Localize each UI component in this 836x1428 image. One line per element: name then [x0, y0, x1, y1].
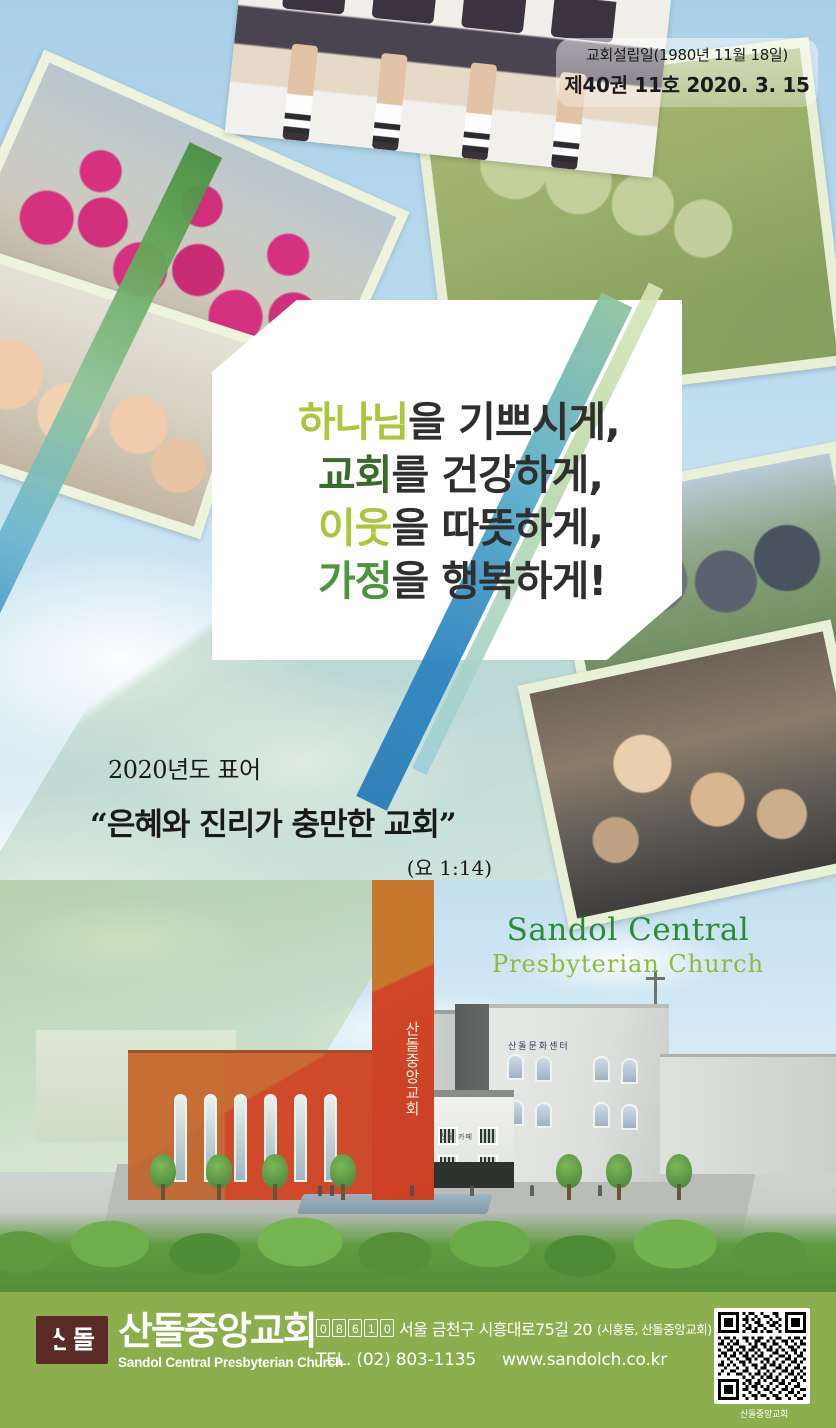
slogan-line-1: 하나님을 기쁘시게, — [236, 396, 676, 449]
brand-name-english: Sandol Central Presbyterian Church — [118, 1355, 343, 1370]
telephone[interactable]: TEL. (02) 803-1135 — [316, 1350, 476, 1370]
nave-window — [294, 1094, 307, 1182]
street-address: 서울 금천구 시흥대로75길 20 — [399, 1316, 592, 1340]
slogan-keyword-church: 교회 — [318, 451, 391, 499]
window — [535, 1056, 552, 1082]
church-founding-date: 교회설립일(1980년 11월 18일) — [564, 44, 810, 65]
window — [621, 1058, 638, 1084]
window — [507, 1054, 524, 1080]
year-motto-block: 2020년도 표어 “은혜와 진리가 충만한 교회” (요 1:14) — [90, 750, 520, 881]
slogan-rest-4: 을 행복하게! — [391, 557, 606, 605]
english-name-line-2: Presbyterian Church — [478, 950, 778, 978]
slogan-keyword-god: 하나님 — [298, 398, 408, 446]
slogan-rest-3: 을 따뜻하게, — [391, 504, 602, 552]
bulletin-cover: 산돌문화센터 산돌 카페 산돌중앙교회 — [0, 0, 836, 1428]
zip-digit: 0 — [380, 1319, 394, 1337]
slogan-line-3: 이웃을 따뜻하게, — [236, 502, 676, 555]
culture-center-sign: 산돌문화센터 — [508, 1039, 570, 1052]
motto-scripture-reference: (요 1:14) — [90, 852, 520, 881]
slogan-rest-1: 을 기쁘시게, — [408, 398, 619, 446]
window — [593, 1056, 610, 1082]
window — [535, 1102, 552, 1128]
slogan-keyword-family: 가정 — [318, 557, 391, 605]
pedestrian — [598, 1185, 602, 1196]
tree — [606, 1154, 632, 1200]
window — [478, 1127, 498, 1145]
motto-year-label: 2020년도 표어 — [108, 750, 520, 785]
address-detail: (시흥동, 산돌중앙교회) — [597, 1319, 712, 1338]
pedestrian — [530, 1185, 534, 1196]
foreground-shrubs — [0, 1212, 836, 1292]
tree — [262, 1154, 288, 1200]
qr-code-block[interactable]: 산돌중앙교회 — [714, 1308, 814, 1420]
tree — [666, 1154, 692, 1200]
address-row: 0 8 6 1 0 서울 금천구 시흥대로75길 20 (시흥동, 산돌중앙교회… — [316, 1316, 696, 1340]
church-vision-slogan: 하나님을 기쁘시게, 교회를 건강하게, 이웃을 따뜻하게, 가정을 행복하게! — [236, 396, 676, 608]
tower-vertical-name: 산돌중앙교회 — [386, 1021, 422, 1117]
slogan-rest-2: 를 건강하게, — [391, 451, 602, 499]
footer-brand: 산돌중앙교회 Sandol Central Presbyterian Churc… — [118, 1312, 343, 1370]
tree — [556, 1154, 582, 1200]
footer-contact: 0 8 6 1 0 서울 금천구 시흥대로75길 20 (시흥동, 산돌중앙교회… — [316, 1316, 696, 1370]
tree — [150, 1154, 176, 1200]
website-url[interactable]: www.sandolch.co.kr — [502, 1350, 667, 1370]
zip-digit: 0 — [316, 1319, 330, 1337]
english-name-line-1: Sandol Central — [478, 912, 778, 948]
zip-digit: 6 — [348, 1319, 362, 1337]
nave-window — [234, 1094, 247, 1182]
slogan-line-2: 교회를 건강하게, — [236, 449, 676, 502]
logo-mark-text: 산돌 — [36, 1316, 108, 1364]
footer-bar: 산돌 산돌중앙교회 Sandol Central Presbyterian Ch… — [0, 1292, 836, 1428]
motto-text: “은혜와 진리가 충만한 교회” — [90, 799, 520, 844]
tel-web-row: TEL. (02) 803-1135 www.sandolch.co.kr — [316, 1350, 696, 1370]
church-logo-mark: 산돌 — [36, 1316, 108, 1364]
cafe-sign: 산돌 카페 — [440, 1132, 473, 1142]
pedestrian — [318, 1185, 322, 1196]
tree — [206, 1154, 232, 1200]
issue-info-badge: 교회설립일(1980년 11월 18일) 제40권 11호 2020. 3. 1… — [556, 38, 818, 107]
window — [593, 1102, 610, 1128]
english-church-name: Sandol Central Presbyterian Church — [478, 912, 778, 978]
pedestrian — [470, 1185, 474, 1196]
slogan-keyword-neighbor: 이웃 — [318, 504, 391, 552]
zip-digit: 1 — [364, 1319, 378, 1337]
pedestrian — [330, 1185, 334, 1196]
postal-code: 0 8 6 1 0 — [316, 1319, 394, 1337]
pedestrian — [410, 1185, 414, 1196]
qr-caption: 산돌중앙교회 — [714, 1407, 814, 1420]
slogan-line-4: 가정을 행복하게! — [236, 555, 676, 608]
zip-digit: 8 — [332, 1319, 346, 1337]
issue-number-date: 제40권 11호 2020. 3. 15 — [564, 69, 810, 98]
window — [621, 1104, 638, 1130]
brand-name-korean: 산돌중앙교회 — [118, 1312, 343, 1350]
qr-code-image[interactable] — [714, 1308, 810, 1404]
